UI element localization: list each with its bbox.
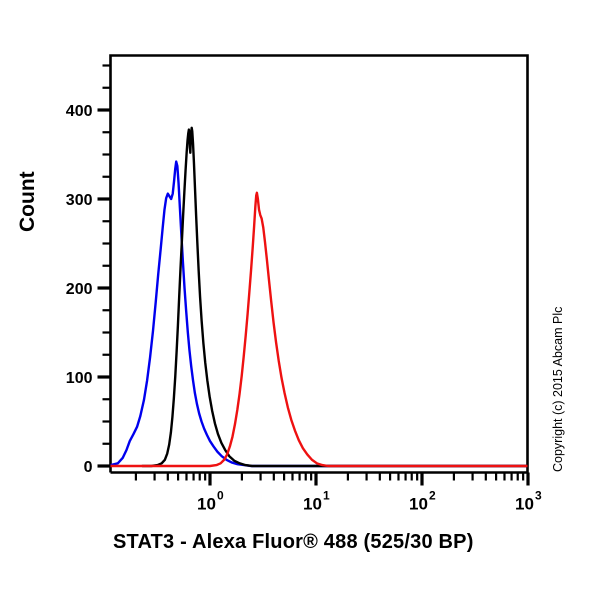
copyright-notice: Copyright (c) 2015 Abcam Plc bbox=[551, 307, 565, 472]
y-axis-tick-label: 300 bbox=[66, 192, 93, 209]
x-axis-tick-label: 10 bbox=[303, 495, 322, 514]
histogram-curve bbox=[110, 193, 528, 466]
x-axis-tick-label: 10 bbox=[197, 495, 216, 514]
x-axis-tick-label: 10 bbox=[515, 495, 534, 514]
x-axis-tick-label: 10 bbox=[409, 495, 428, 514]
x-axis-tick-exponent: 3 bbox=[535, 489, 542, 503]
x-axis-title: STAT3 - Alexa Fluor® 488 (525/30 BP) bbox=[113, 531, 474, 554]
x-axis-tick-exponent: 2 bbox=[429, 489, 436, 503]
y-axis-tick-label: 400 bbox=[66, 103, 93, 120]
y-axis-tick-label: 100 bbox=[66, 370, 93, 387]
flow-cytometry-figure: 0100200300400100101102103 Count STAT3 - … bbox=[0, 0, 600, 600]
y-axis-tick-label: 0 bbox=[84, 459, 93, 476]
x-axis-tick-exponent: 1 bbox=[323, 489, 330, 503]
x-axis-tick-exponent: 0 bbox=[217, 489, 224, 503]
y-axis-title: Count bbox=[16, 171, 40, 232]
histogram-plot: 0100200300400100101102103 bbox=[0, 0, 600, 600]
y-axis-tick-label: 200 bbox=[66, 281, 93, 298]
